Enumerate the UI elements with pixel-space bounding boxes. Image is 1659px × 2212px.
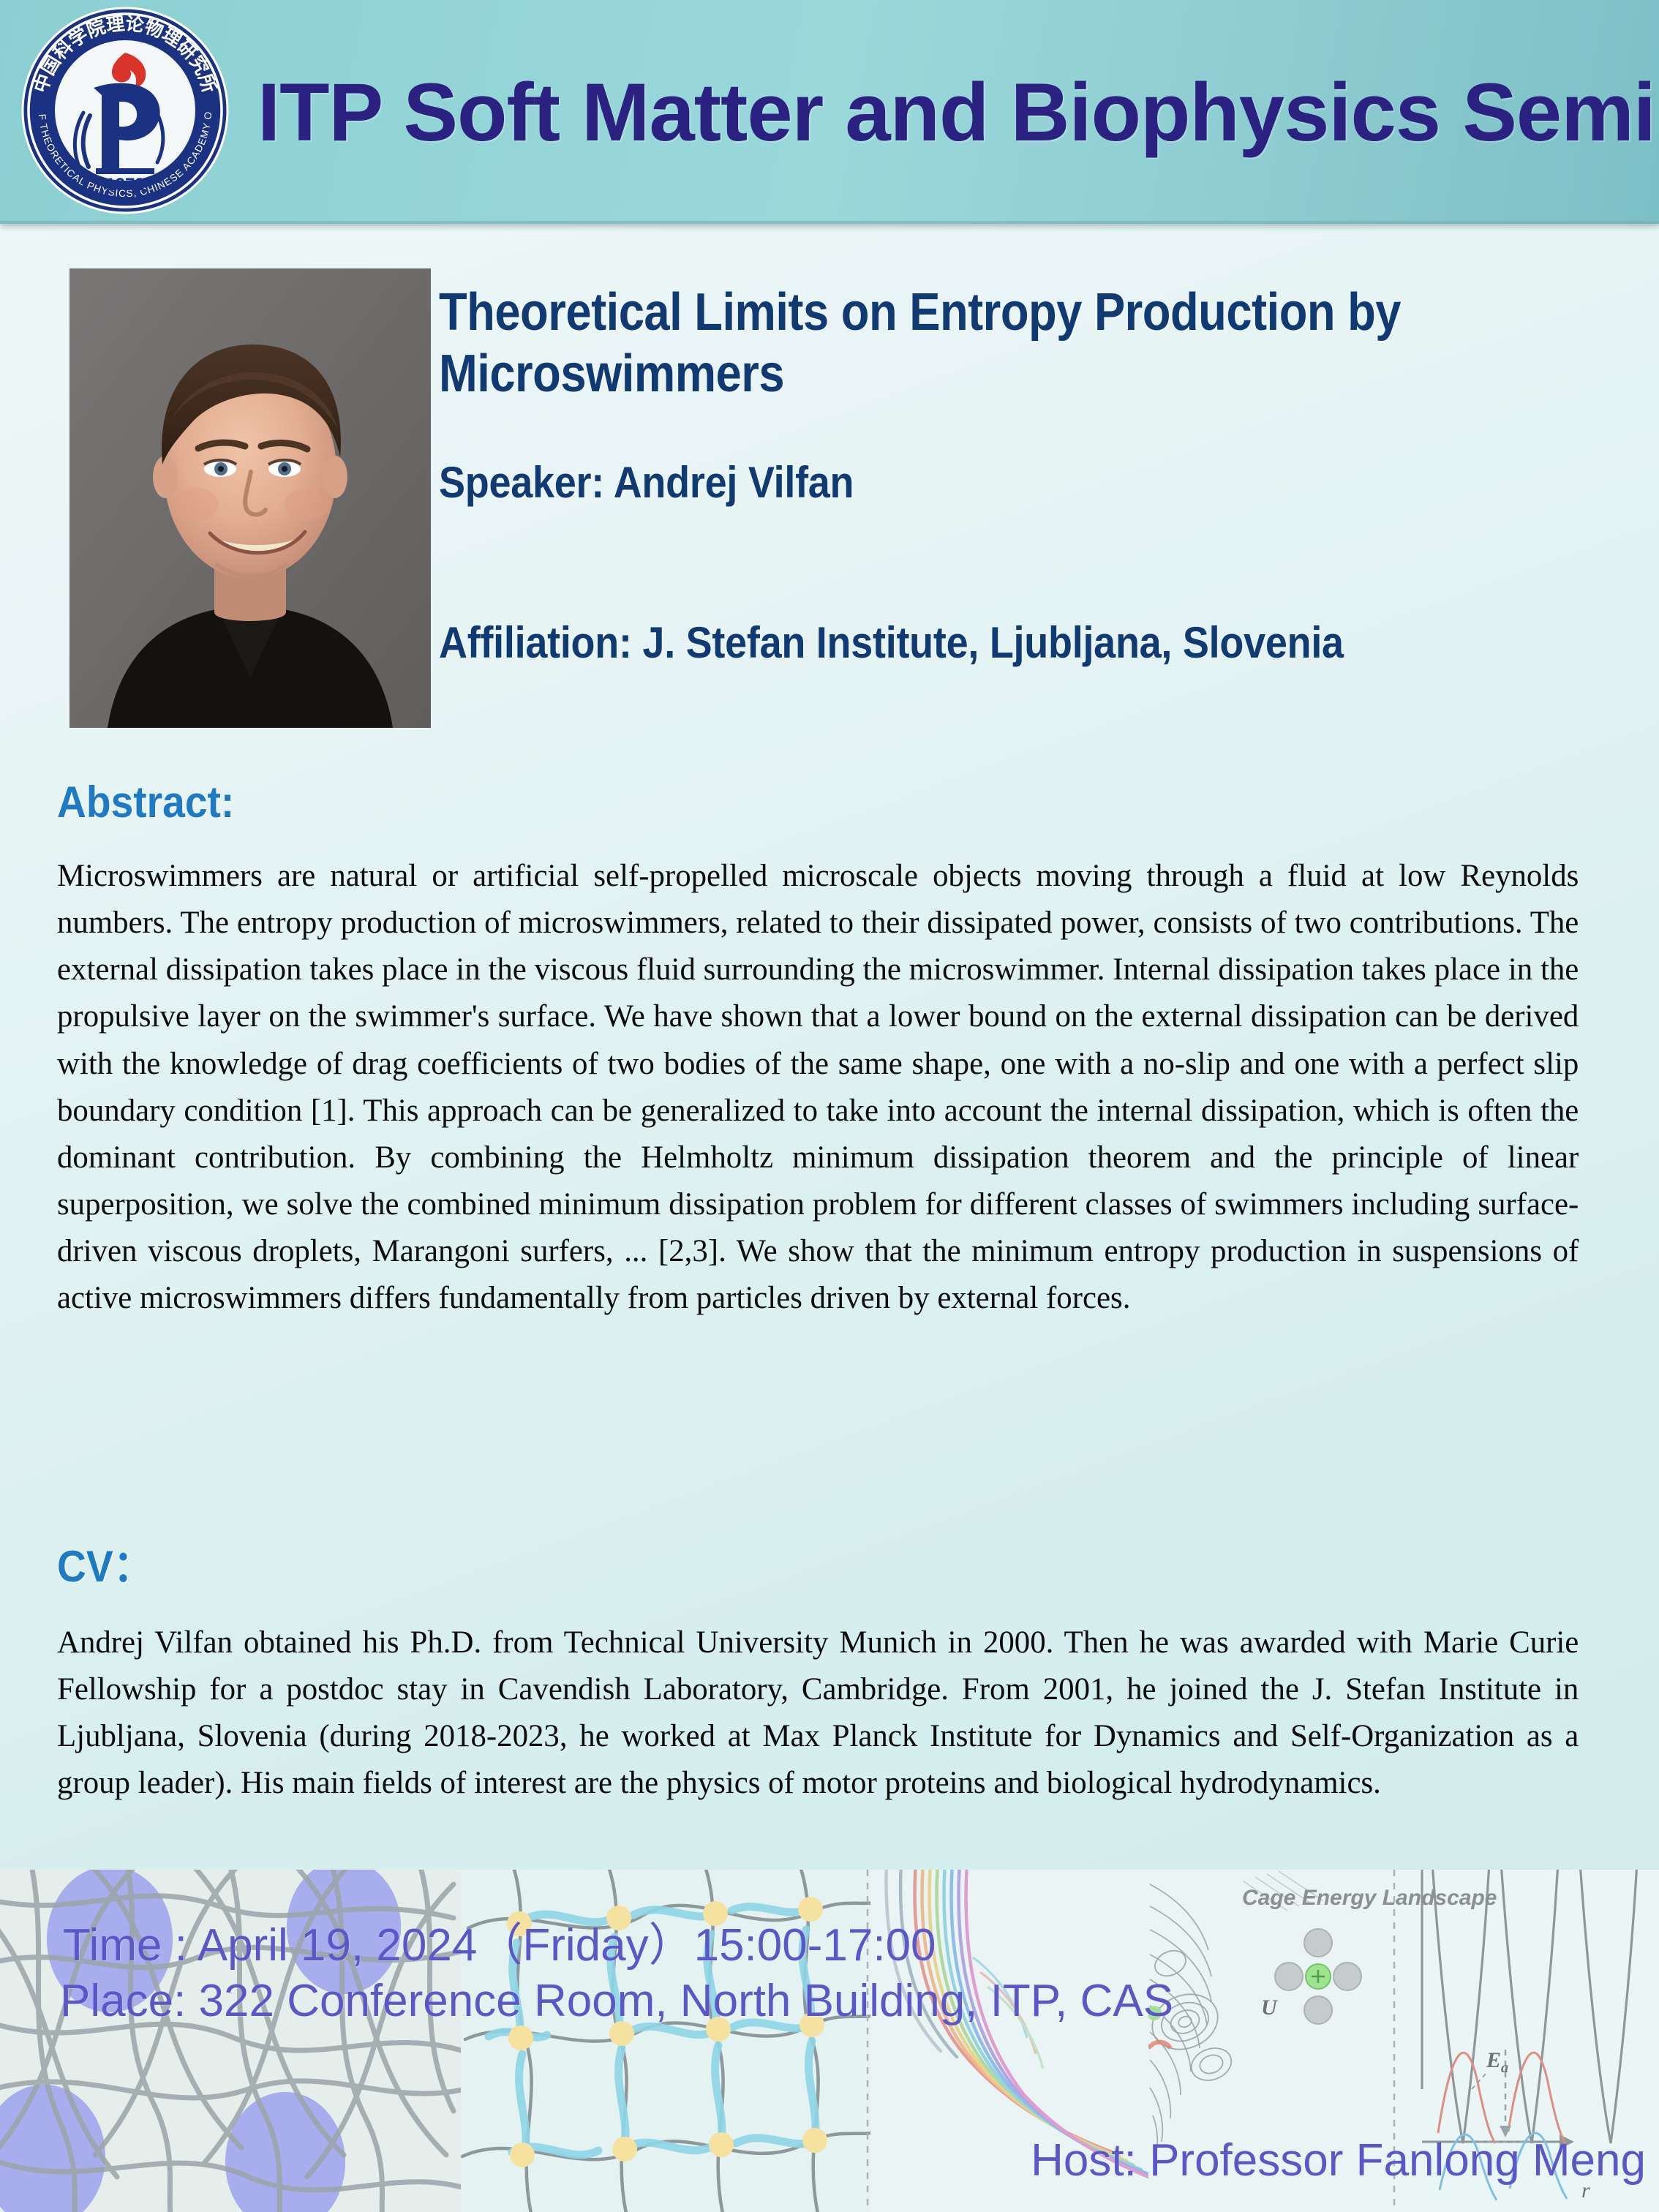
footer-band: Cage Energy Landscape U r Ea Time : Apri…	[0, 1870, 1659, 2212]
cv-section: CV： Andrej Vilfan obtained his Ph.D. fro…	[57, 1531, 1602, 1807]
axis-label-activation-energy: Ea	[1486, 2048, 1508, 2077]
axis-label-u: U	[1261, 1995, 1277, 2020]
talk-info-block: Theoretical Limits on Entropy Production…	[439, 282, 1609, 668]
seminar-poster: 中国科学院理论物理研究所 INSTITUTE OF THEORETICAL PH…	[0, 0, 1659, 2212]
cv-body: Andrej Vilfan obtained his Ph.D. from Te…	[57, 1619, 1579, 1807]
seal-year: 1978	[105, 175, 144, 195]
seminar-time: Time : April 19, 2024（Friday）15:00-17:00	[63, 1908, 936, 1974]
abstract-body: Microswimmers are natural or artificial …	[57, 852, 1579, 1322]
abstract-section: Abstract: Microswimmers are natural or a…	[57, 777, 1602, 1322]
abstract-heading: Abstract:	[57, 777, 1478, 827]
seminar-host: Host: Professor Fanlong Meng	[1031, 2134, 1646, 2186]
speaker-name: Speaker: Andrej Vilfan	[439, 457, 1492, 508]
speaker-affiliation: Affiliation: J. Stefan Institute, Ljublj…	[439, 617, 1492, 668]
seminar-place: Place: 322 Conference Room, North Buildi…	[60, 1975, 1173, 2027]
speaker-photo	[67, 266, 433, 730]
header-banner: 中国科学院理论物理研究所 INSTITUTE OF THEORETICAL PH…	[0, 0, 1659, 224]
itp-cas-seal-logo: 中国科学院理论物理研究所 INSTITUTE OF THEORETICAL PH…	[20, 6, 230, 215]
ea-symbol: E	[1486, 2048, 1501, 2072]
page-title: ITP Soft Matter and Biophysics Seminar	[257, 37, 1633, 187]
cv-heading: CV：	[57, 1531, 1478, 1595]
ea-subscript: a	[1501, 2060, 1508, 2076]
talk-title: Theoretical Limits on Entropy Production…	[439, 282, 1469, 405]
cage-energy-landscape-caption: Cage Energy Landscape	[1242, 1886, 1497, 1911]
